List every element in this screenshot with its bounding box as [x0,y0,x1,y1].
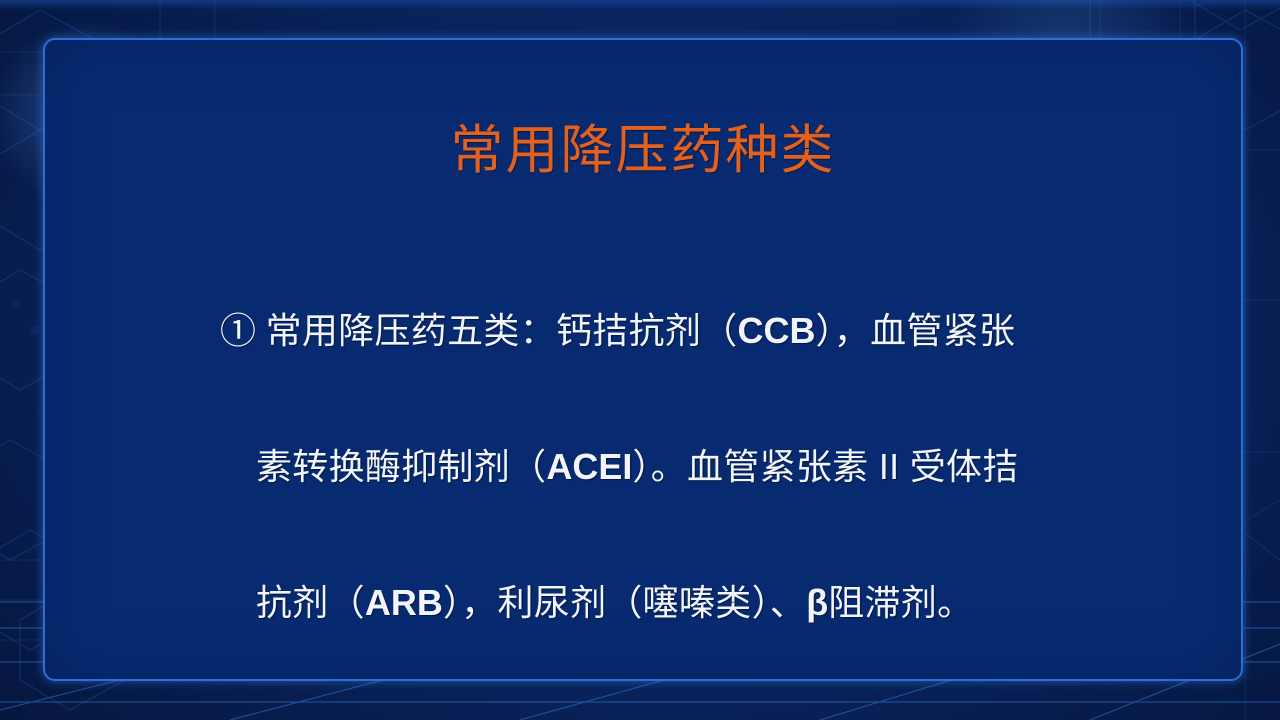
greek-beta: β [806,582,828,623]
body-item-2: ②以上5类降压药及固定低剂量复方制剂均可作为高 血压初始或维持治疗的选择药物。此… [220,716,1120,720]
presentation-slide: 常用降压药种类 ① 常用降压药五类：钙拮抗剂（CCB），血管紧张 素转换酶抑制剂… [0,0,1280,720]
abbr-acei: ACEI [546,446,632,487]
content-panel: 常用降压药种类 ① 常用降压药五类：钙拮抗剂（CCB），血管紧张 素转换酶抑制剂… [43,38,1243,681]
top-edge-glow-strip [0,0,1280,10]
body-item-1: ① 常用降压药五类：钙拮抗剂（CCB），血管紧张 素转换酶抑制剂（ACEI）。血… [220,218,1120,716]
slide-title: 常用降压药种类 [45,122,1241,180]
roman-numeral-two: II [869,446,910,487]
abbr-ccb: CCB [738,310,816,351]
slide-body: ① 常用降压药五类：钙拮抗剂（CCB），血管紧张 素转换酶抑制剂（ACEI）。血… [220,218,1120,720]
body-line: ① 常用降压药五类：钙拮抗剂（CCB），血管紧张 [220,308,1120,354]
abbr-arb: ARB [365,582,443,623]
body-line: 抗剂（ARB），利尿剂（噻嗪类）、β阻滞剂。 [220,580,1120,626]
body-line: 素转换酶抑制剂（ACEI）。血管紧张素 II 受体拮 [220,444,1120,490]
